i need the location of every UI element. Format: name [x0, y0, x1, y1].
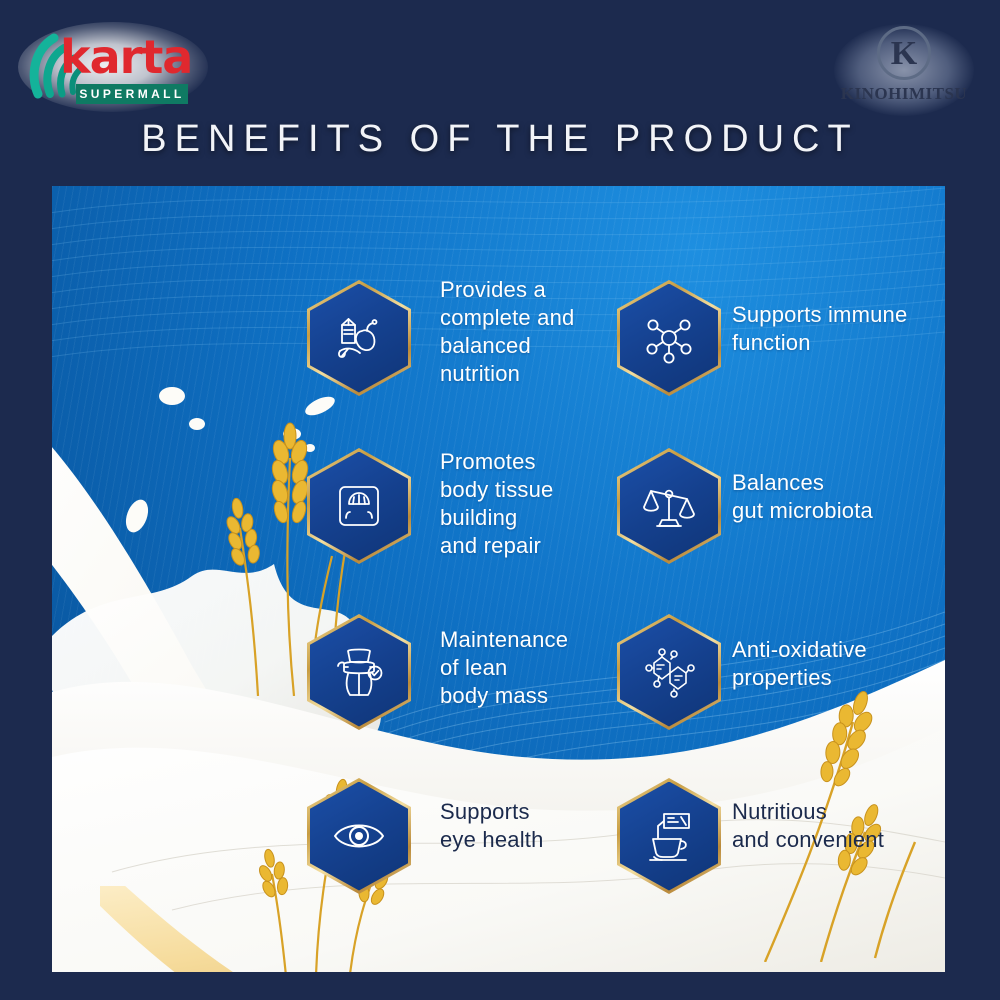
- benefit-text-anti-oxidative: Anti-oxidativeproperties: [732, 636, 932, 692]
- benefit-hexagon-immune-function[interactable]: [617, 280, 721, 396]
- weighing-scale-icon: [332, 479, 386, 533]
- benefits-panel: No preservatives Provides acomplete andb…: [52, 186, 945, 972]
- benefit-hexagon-body-tissue-building[interactable]: [307, 448, 411, 564]
- product-benefits-infographic: karta SUPERMALL K KINOHIMITSU BENEFITS O…: [0, 0, 1000, 1000]
- benefit-text-lean-body-mass: Maintenanceof leanbody mass: [440, 626, 620, 710]
- page-title: BENEFITS OF THE PRODUCT: [0, 118, 1000, 161]
- benefit-hexagon-eye-health[interactable]: [307, 778, 411, 894]
- kinohimitsu-logo: K KINOHIMITSU: [834, 24, 974, 116]
- karta-supermall-logo: karta SUPERMALL: [18, 22, 208, 112]
- sachet-cup-icon: [640, 808, 698, 864]
- karta-tagline: SUPERMALL: [76, 84, 188, 104]
- benefit-hexagon-complete-balanced-nutrition[interactable]: [307, 280, 411, 396]
- karta-wordmark: karta: [60, 30, 192, 84]
- benefit-hexagon-nutritious-convenient[interactable]: [617, 778, 721, 894]
- benefit-text-nutritious-convenient: Nutritiousand convenient: [732, 798, 937, 854]
- molecule-network-icon: [640, 309, 698, 367]
- milk-carton-vegetables-icon: [330, 309, 388, 367]
- benefit-hexagon-gut-microbiota[interactable]: [617, 448, 721, 564]
- chemical-structure-icon: [640, 643, 698, 701]
- benefit-text-eye-health: Supportseye health: [440, 798, 620, 854]
- no-preservatives-ribbon: [100, 886, 400, 972]
- benefit-text-gut-microbiota: Balancesgut microbiota: [732, 469, 932, 525]
- eye-icon: [330, 814, 388, 858]
- balance-scales-icon: [640, 478, 698, 534]
- waist-measure-icon: [331, 643, 387, 701]
- benefit-text-complete-balanced-nutrition: Provides acomplete andbalancednutrition: [440, 276, 610, 388]
- kinohimitsu-wordmark: KINOHIMITSU: [834, 84, 974, 104]
- benefit-hexagon-lean-body-mass[interactable]: [307, 614, 411, 730]
- benefit-text-body-tissue-building: Promotesbody tissuebuildingand repair: [440, 448, 615, 560]
- benefit-hexagon-anti-oxidative[interactable]: [617, 614, 721, 730]
- benefit-text-immune-function: Supports immunefunction: [732, 301, 932, 357]
- circle-k-icon: K: [877, 26, 931, 80]
